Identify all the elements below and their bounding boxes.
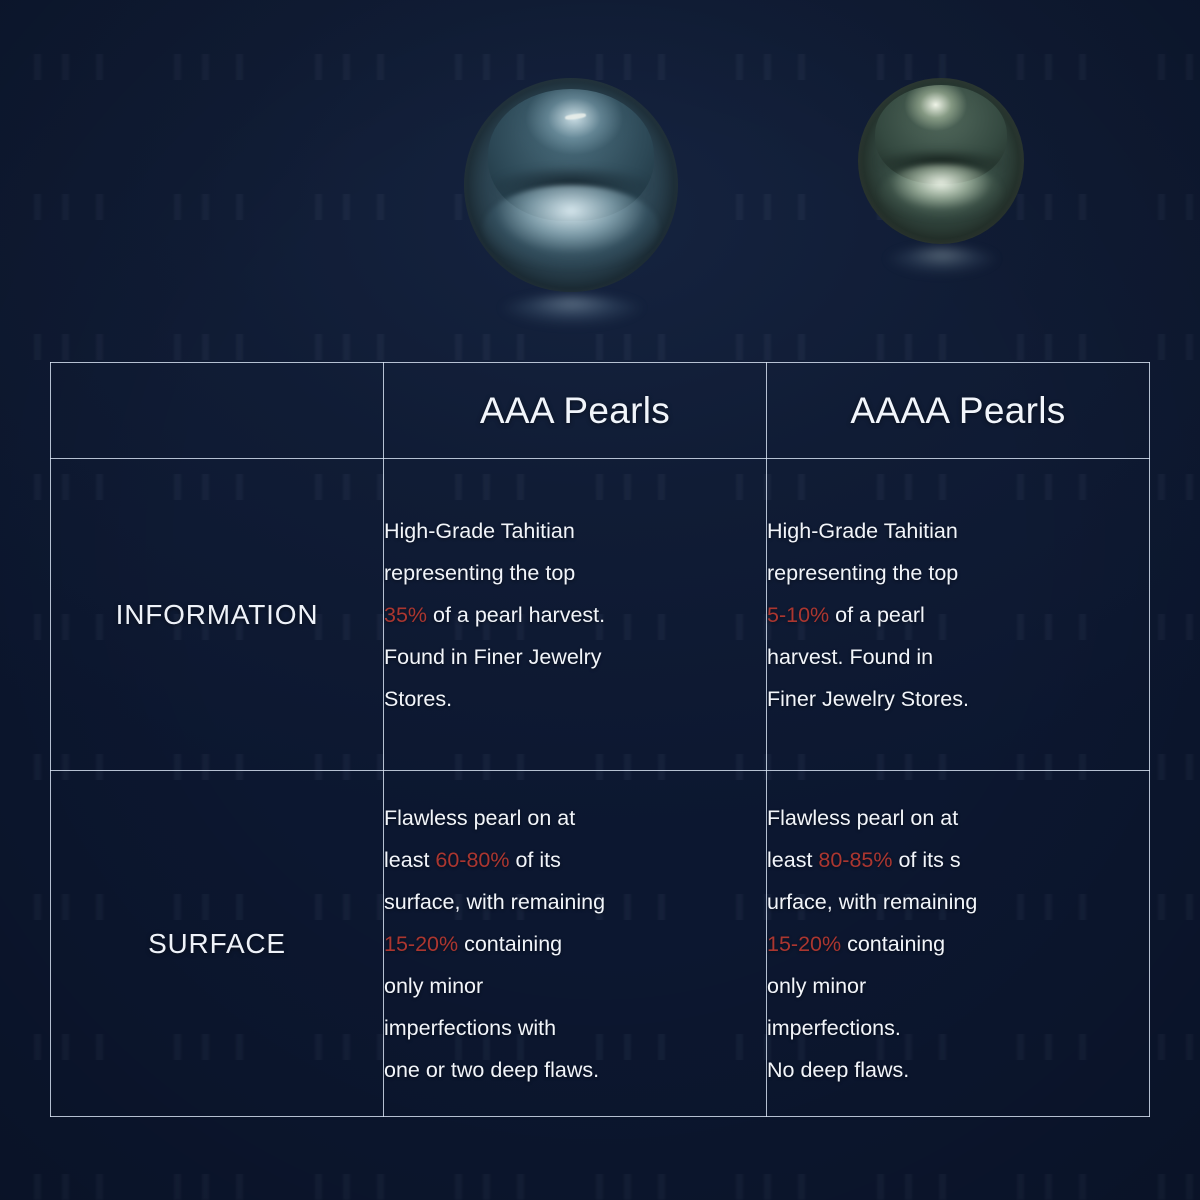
header-label-blank (51, 363, 384, 459)
table-header-row: AAA Pearls AAAA Pearls (51, 363, 1150, 459)
text-line: representing the top (767, 552, 1149, 594)
text-line: Stores. (384, 678, 766, 720)
percentage-highlight: 15-20% (384, 932, 458, 956)
text-run: Flawless pearl on at (384, 806, 575, 830)
text-run: Flawless pearl on at (767, 806, 958, 830)
percentage-highlight: 15-20% (767, 932, 841, 956)
text-line: Flawless pearl on at (384, 797, 766, 839)
text-run: harvest. Found in (767, 645, 933, 669)
text-run: Found in Finer Jewelry (384, 645, 601, 669)
text-line: Finer Jewelry Stores. (767, 678, 1149, 720)
text-line: 15-20% containing (384, 923, 766, 965)
text-run: of a pearl harvest. (427, 603, 605, 627)
text-run: imperfections with (384, 1016, 556, 1040)
text-line: harvest. Found in (767, 636, 1149, 678)
text-run: of a pearl (829, 603, 925, 627)
aaa-pearl-reflection (478, 296, 666, 356)
text-run: representing the top (767, 561, 958, 585)
text-run: High-Grade Tahitian (384, 519, 575, 543)
text-run: Stores. (384, 687, 452, 711)
aaaa-pearl-reflection (868, 248, 1016, 302)
cell-information-aaa: High-Grade Tahitianrepresenting the top3… (384, 459, 767, 771)
text-line: least 80-85% of its s (767, 839, 1149, 881)
text-run: least (384, 848, 435, 872)
text-run: surface, with remaining (384, 890, 605, 914)
text-run: No deep flaws. (767, 1058, 909, 1082)
text-line: urface, with remaining (767, 881, 1149, 923)
text-run: containing (841, 932, 945, 956)
text-line: 35% of a pearl harvest. (384, 594, 766, 636)
text-run: High-Grade Tahitian (767, 519, 958, 543)
percentage-highlight: 35% (384, 603, 427, 627)
table-row-information: INFORMATION High-Grade Tahitianrepresent… (51, 459, 1150, 771)
text-run: Finer Jewelry Stores. (767, 687, 969, 711)
text-run: only minor (767, 974, 866, 998)
text-run: of its (510, 848, 561, 872)
cell-information-aaaa: High-Grade Tahitianrepresenting the top5… (767, 459, 1150, 771)
text-line: only minor (767, 965, 1149, 1007)
text-line: one or two deep flaws. (384, 1049, 766, 1091)
text-line: only minor (384, 965, 766, 1007)
percentage-highlight: 5-10% (767, 603, 829, 627)
text-run: representing the top (384, 561, 575, 585)
text-line: 15-20% containing (767, 923, 1149, 965)
text-run: urface, with remaining (767, 890, 977, 914)
text-run: only minor (384, 974, 483, 998)
cell-surface-aaaa: Flawless pearl on atleast 80-85% of its … (767, 771, 1150, 1117)
text-line: least 60-80% of its (384, 839, 766, 881)
table-row-surface: SURFACE Flawless pearl on atleast 60-80%… (51, 771, 1150, 1117)
text-line: representing the top (384, 552, 766, 594)
text-line: High-Grade Tahitian (767, 510, 1149, 552)
header-aaaa-pearls: AAAA Pearls (767, 363, 1150, 459)
cell-surface-aaa: Flawless pearl on atleast 60-80% of itss… (384, 771, 767, 1117)
header-aaa-pearls: AAA Pearls (384, 363, 767, 459)
text-run: imperfections. (767, 1016, 901, 1040)
text-line: High-Grade Tahitian (384, 510, 766, 552)
aaaa-pearl-rim (858, 78, 1024, 244)
row-label-information: INFORMATION (51, 459, 384, 771)
text-line: No deep flaws. (767, 1049, 1149, 1091)
aaa-pearl-image (464, 78, 678, 292)
text-line: imperfections. (767, 1007, 1149, 1049)
text-run: of its s (893, 848, 961, 872)
text-run: least (767, 848, 818, 872)
percentage-highlight: 60-80% (435, 848, 509, 872)
aaa-pearl-rim (464, 78, 678, 292)
text-line: imperfections with (384, 1007, 766, 1049)
text-run: one or two deep flaws. (384, 1058, 599, 1082)
text-run: containing (458, 932, 562, 956)
text-line: Found in Finer Jewelry (384, 636, 766, 678)
text-line: Flawless pearl on at (767, 797, 1149, 839)
row-label-surface: SURFACE (51, 771, 384, 1117)
text-line: surface, with remaining (384, 881, 766, 923)
text-line: 5-10% of a pearl (767, 594, 1149, 636)
pearl-grade-comparison-table: AAA Pearls AAAA Pearls INFORMATION High-… (50, 362, 1150, 1117)
aaaa-pearl-image (858, 78, 1024, 244)
percentage-highlight: 80-85% (818, 848, 892, 872)
